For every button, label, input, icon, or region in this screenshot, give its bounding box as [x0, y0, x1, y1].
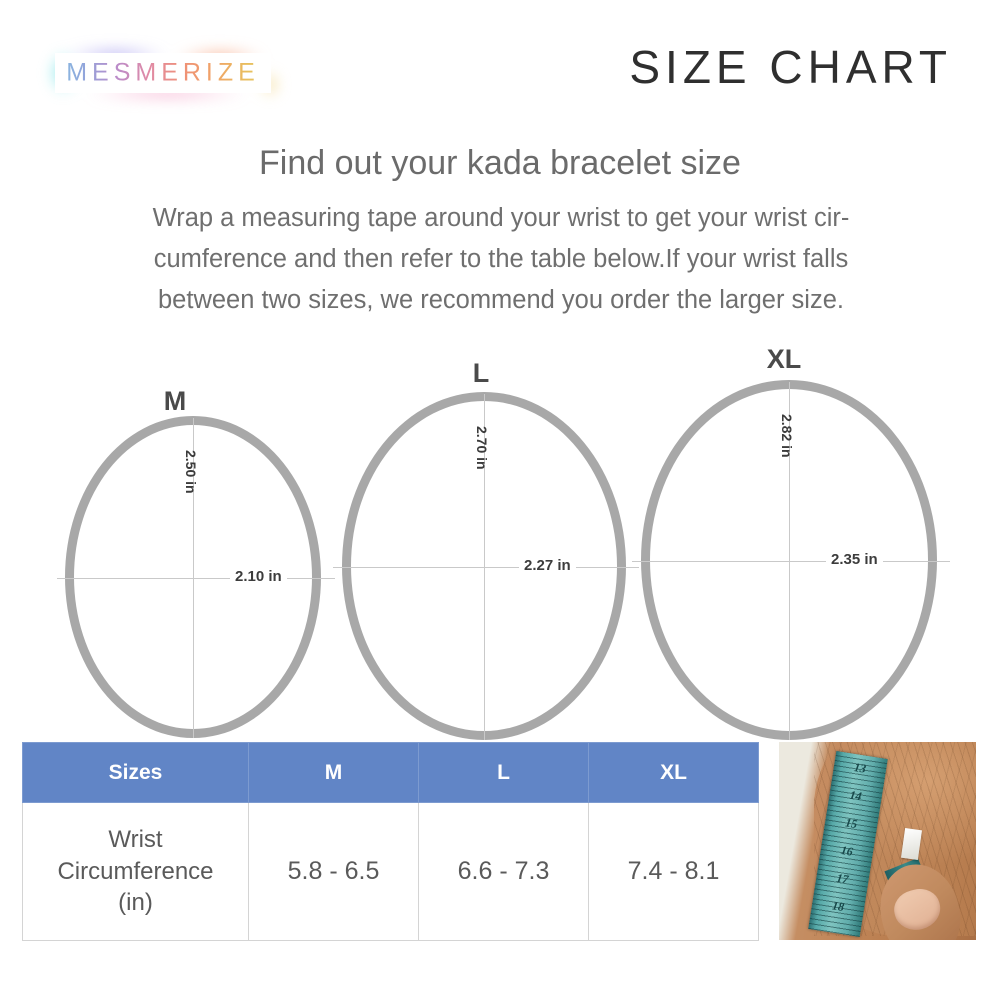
row-label-line-2: Circumference	[23, 856, 248, 888]
intro-line-3: between two sizes, we recommend you orde…	[50, 280, 952, 321]
intro-line-1: Wrap a measuring tape around your wrist …	[50, 198, 952, 239]
intro-line-2: cumference and then refer to the table b…	[50, 239, 952, 280]
oval-size-label-m: M	[145, 386, 205, 417]
photo-thumbnail	[891, 884, 945, 934]
size-table: Sizes M L XL Wrist Circumference (in) 5.…	[22, 742, 759, 941]
oval-width-label-xl: 2.35 in	[826, 551, 883, 568]
row-label-line-3: (in)	[23, 887, 248, 919]
table-header-sizes: Sizes	[23, 743, 249, 803]
brand-logo: MESMERIZE	[44, 44, 282, 102]
page-title: SIZE CHART	[629, 40, 952, 94]
intro-body: Wrap a measuring tape around your wrist …	[50, 198, 952, 320]
oval-diagram-xl: XL 2.82 in 2.35 in	[636, 346, 946, 740]
table-header-xl: XL	[589, 743, 759, 803]
cell-wrist-xl: 7.4 - 8.1	[589, 803, 759, 941]
oval-size-label-xl: XL	[749, 344, 819, 375]
oval-diagram-m: M 2.50 in 2.10 in	[60, 388, 330, 738]
row-label-wrist-circumference: Wrist Circumference (in)	[23, 803, 249, 941]
oval-width-label-m: 2.10 in	[230, 568, 287, 585]
oval-axis-horizontal-xl	[632, 561, 950, 562]
size-table-head: Sizes M L XL	[23, 743, 759, 803]
intro-heading: Find out your kada bracelet size	[0, 144, 1000, 183]
size-chart-page: MESMERIZE SIZE CHART Find out your kada …	[0, 0, 1000, 1000]
oval-height-label-m: 2.50 in	[183, 450, 199, 494]
brand-name: MESMERIZE	[44, 59, 282, 88]
oval-diagram-group: M 2.50 in 2.10 in L 2.70 in 2.27 in XL 2…	[0, 340, 1000, 740]
wrist-measuring-photo: 13 14 15 16 17 18	[779, 742, 976, 940]
oval-diagram-l: L 2.70 in 2.27 in	[337, 362, 635, 740]
oval-width-label-l: 2.27 in	[519, 557, 576, 574]
table-row: Wrist Circumference (in) 5.8 - 6.5 6.6 -…	[23, 803, 759, 941]
oval-height-label-l: 2.70 in	[474, 426, 490, 470]
cell-wrist-m: 5.8 - 6.5	[249, 803, 419, 941]
oval-size-label-l: L	[451, 358, 511, 389]
oval-axis-horizontal-l	[333, 567, 639, 568]
table-header-row: Sizes M L XL	[23, 743, 759, 803]
table-header-m: M	[249, 743, 419, 803]
oval-height-label-xl: 2.82 in	[779, 414, 795, 458]
cell-wrist-l: 6.6 - 7.3	[419, 803, 589, 941]
oval-axis-horizontal-m	[57, 578, 335, 579]
row-label-line-1: Wrist	[23, 824, 248, 856]
size-table-body: Wrist Circumference (in) 5.8 - 6.5 6.6 -…	[23, 803, 759, 941]
table-header-l: L	[419, 743, 589, 803]
